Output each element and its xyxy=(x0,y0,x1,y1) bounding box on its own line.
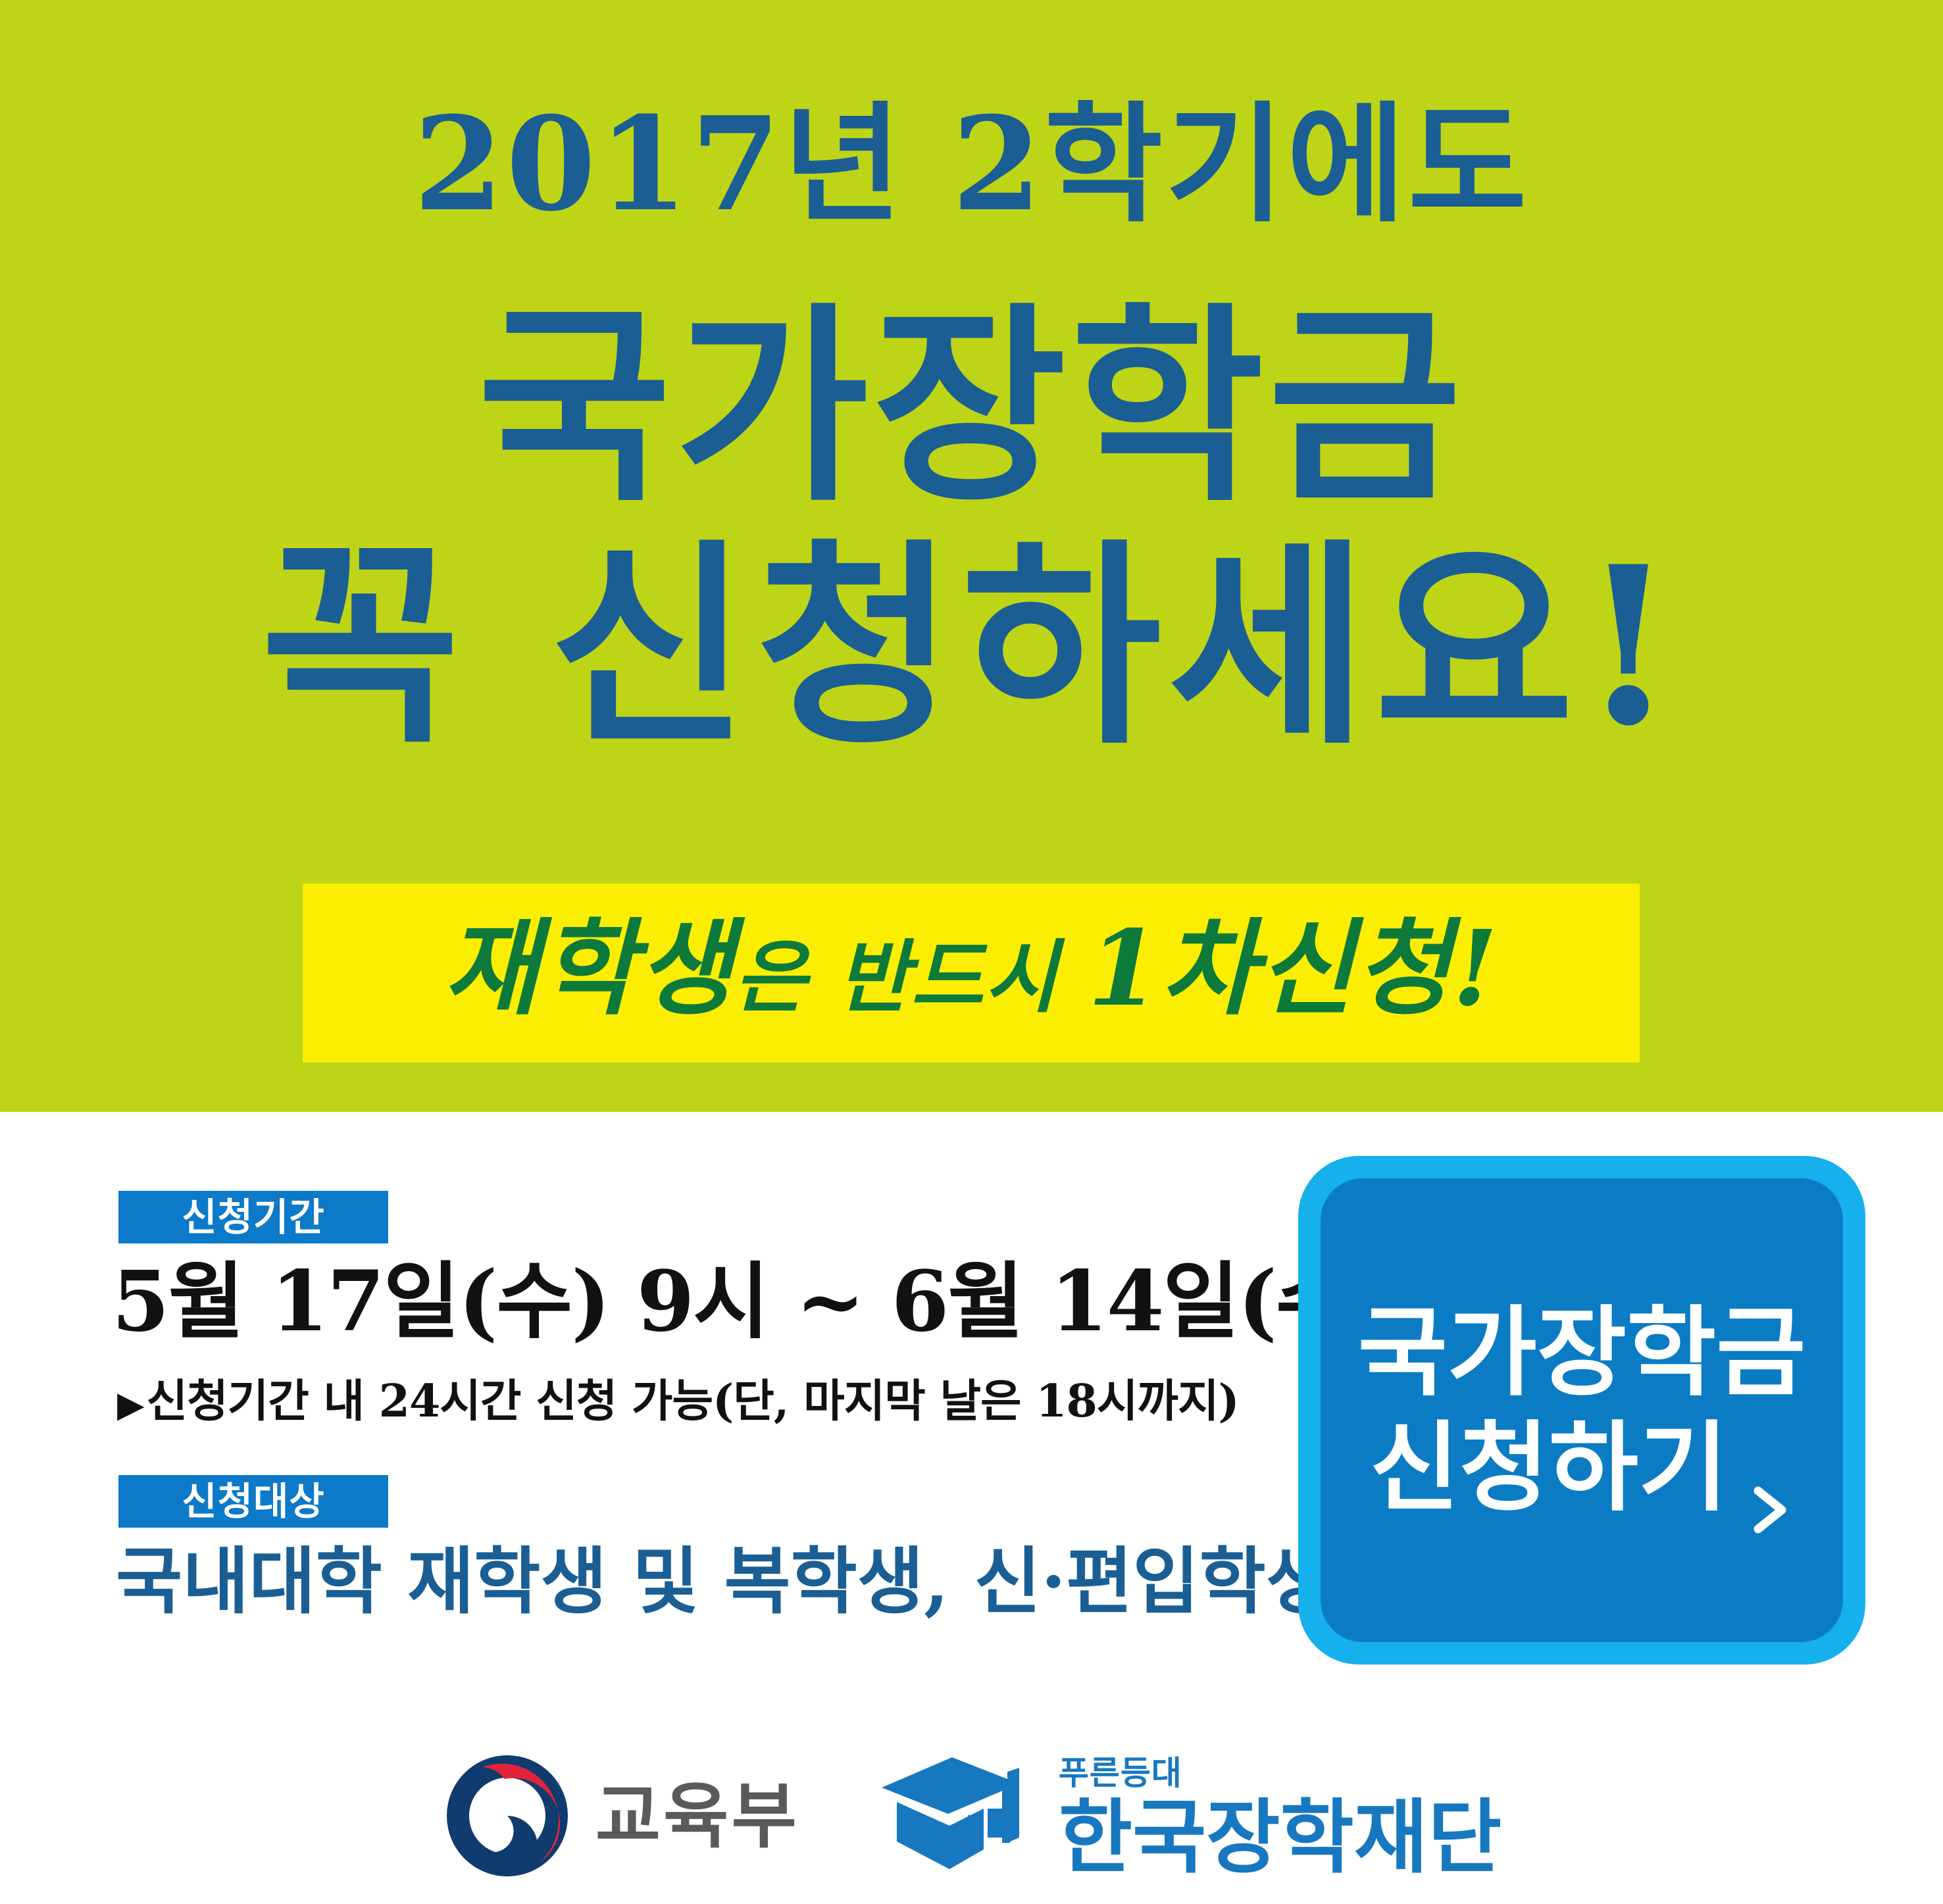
apply-button-label-line2-row: 신청하기 xyxy=(1370,1411,1794,1526)
kosaf-name: 한국장학재단 xyxy=(1059,1797,1501,1878)
application-period-note-text: 신청기간 내 24시간 신청 가능(단, 마지막 날은 18시까지) xyxy=(147,1375,1239,1428)
korea-government-taegeuk-emblem-icon xyxy=(442,1750,573,1885)
hero-title-line1: 국가장학금 xyxy=(478,284,1466,530)
scholarship-banner: 2017년 2학기에도 국가장학금 꼭 신청하세요! 재학생은 반드시 1차신청… xyxy=(0,0,1943,1904)
highlight-text: 재학생은 반드시 1차신청! xyxy=(443,917,1500,1021)
application-period-note: ▶신청기간 내 24시간 신청 가능(단, 마지막 날은 18시까지) xyxy=(117,1375,1239,1429)
hero-title: 국가장학금 꼭 신청하세요! xyxy=(0,289,1943,768)
triangle-right-icon: ▶ xyxy=(117,1383,147,1425)
apply-scholarship-button[interactable]: 국가장학금 신청하기 xyxy=(1298,1156,1865,1665)
apply-button-inner[interactable]: 국가장학금 신청하기 xyxy=(1321,1178,1843,1642)
badge-application-period: 신청기간 xyxy=(118,1191,388,1243)
kosaf-wordmark: 푸른등대 한국장학재단 xyxy=(1059,1757,1501,1878)
highlight-lead: 재학생 xyxy=(443,908,734,1030)
highlight-mid: 반드시 xyxy=(808,931,1088,1024)
apply-button-label-line2: 신청하기 xyxy=(1370,1411,1729,1526)
hero-title-line2: 꼭 신청하세요! xyxy=(0,525,1943,768)
hero-eyebrow: 2017년 2학기에도 xyxy=(0,97,1943,233)
kosaf-logo: 푸른등대 한국장학재단 xyxy=(878,1753,1501,1882)
apply-button-label-line1: 국가장학금 xyxy=(1358,1295,1806,1411)
application-target-value: 국내대학 재학생 및 복학생, 신·편입학생 xyxy=(116,1541,1332,1622)
chevron-right-icon xyxy=(1745,1443,1794,1492)
footer-logos: 교육부 푸른등대 한국장학 xyxy=(0,1730,1943,1904)
highlight-emphasis: 1차신청! xyxy=(1088,908,1499,1030)
graduation-cap-lighthouse-icon xyxy=(878,1753,1036,1882)
ministry-of-education-logo: 교육부 xyxy=(442,1750,799,1885)
kosaf-subbrand: 푸른등대 xyxy=(1059,1757,1501,1790)
highlight-particle: 은 xyxy=(734,931,808,1024)
hero-section: 2017년 2학기에도 국가장학금 꼭 신청하세요! 재학생은 반드시 1차신청… xyxy=(0,0,1943,1112)
badge-application-target: 신청대상 xyxy=(118,1475,388,1528)
highlight-banner: 재학생은 반드시 1차신청! xyxy=(303,884,1640,1063)
ministry-of-education-name: 교육부 xyxy=(595,1782,799,1853)
